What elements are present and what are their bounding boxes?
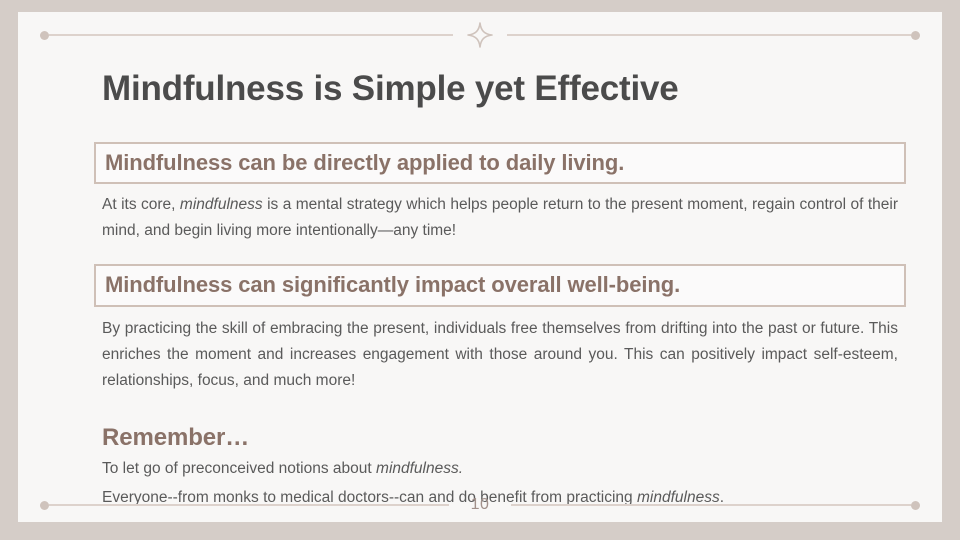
content-area: Mindfulness can be directly applied to d… (94, 142, 906, 510)
body-paragraph-2: By practicing the skill of embracing the… (102, 316, 898, 394)
footer-dot-left (40, 501, 49, 510)
footer-dot-right (911, 501, 920, 510)
callout-heading-2: Mindfulness can significantly impact ove… (105, 272, 895, 297)
slide-card: Mindfulness is Simple yet Effective Mind… (18, 12, 942, 522)
footer-rule-left (49, 504, 449, 506)
page-number: 10 (471, 497, 490, 513)
body-paragraph-1: At its core, mindfulness is a mental str… (102, 192, 898, 244)
top-divider (40, 24, 920, 46)
divider-dot-left (40, 31, 49, 40)
divider-rule-left (49, 34, 453, 36)
four-pointed-star-icon (467, 22, 493, 48)
remember-line-1: To let go of preconceived notions about … (102, 456, 906, 481)
divider-rule-right (507, 34, 911, 36)
callout-heading-1: Mindfulness can be directly applied to d… (105, 150, 895, 175)
footer-rule-right (511, 504, 911, 506)
callout-box-2: Mindfulness can significantly impact ove… (94, 264, 906, 306)
remember-heading: Remember… (102, 424, 906, 452)
divider-dot-right (911, 31, 920, 40)
callout-box-1: Mindfulness can be directly applied to d… (94, 142, 906, 184)
page-title: Mindfulness is Simple yet Effective (102, 69, 679, 109)
bottom-divider: 10 (40, 494, 920, 516)
